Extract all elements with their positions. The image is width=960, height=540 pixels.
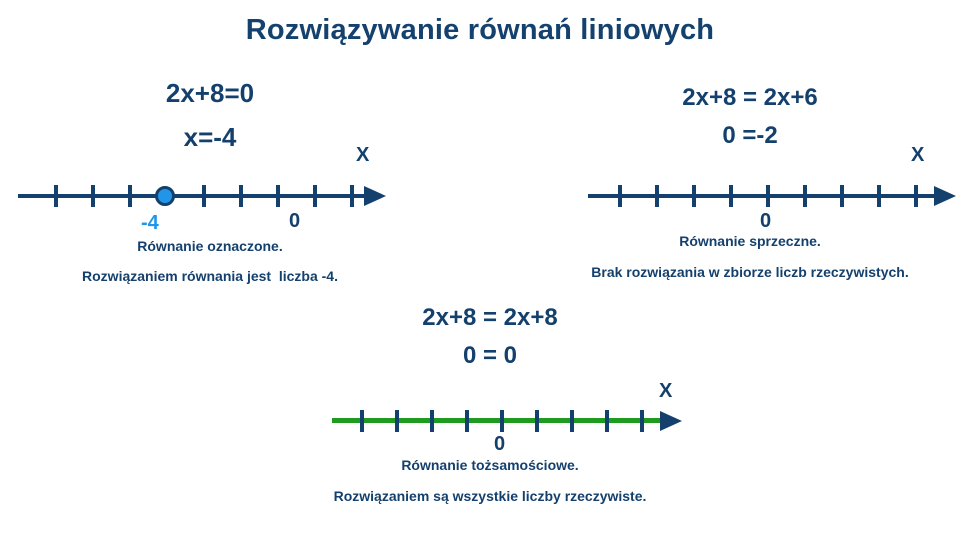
number-line-tick bbox=[350, 185, 354, 207]
number-line-arrowhead bbox=[364, 186, 386, 206]
caption-primary: Równanie sprzeczne. bbox=[540, 233, 960, 249]
number-line-tick bbox=[500, 410, 504, 432]
number-line-determinate bbox=[18, 176, 418, 216]
number-line-identity bbox=[332, 400, 732, 440]
number-line-shaft-highlighted bbox=[332, 418, 662, 423]
number-line-tick bbox=[692, 185, 696, 207]
number-line-tick bbox=[313, 185, 317, 207]
number-line-tick bbox=[914, 185, 918, 207]
caption-primary: Równanie oznaczone. bbox=[0, 238, 420, 254]
number-line-tick bbox=[465, 410, 469, 432]
panel-contradictory-equation: 2x+8 = 2x+6 0 =-2 x 0 Równanie sprzeczne… bbox=[540, 78, 960, 293]
panel-determinate-equation: 2x+8=0 x=-4 x -4 0 Równanie oznaczone. R… bbox=[0, 78, 440, 293]
number-line-tick bbox=[128, 185, 132, 207]
number-line-tick bbox=[430, 410, 434, 432]
equation-line-2: 0 =-2 bbox=[540, 122, 960, 150]
number-line-tick bbox=[360, 410, 364, 432]
axis-label-x: x bbox=[356, 144, 369, 167]
zero-label: 0 bbox=[494, 433, 505, 456]
number-line-tick bbox=[54, 185, 58, 207]
zero-label: 0 bbox=[760, 210, 771, 233]
caption-secondary: Brak rozwiązania w zbiorze liczb rzeczyw… bbox=[540, 264, 960, 280]
axis-label-x: x bbox=[659, 380, 672, 403]
zero-label: 0 bbox=[289, 210, 300, 233]
number-line-tick bbox=[766, 185, 770, 207]
number-line-arrowhead bbox=[660, 411, 682, 431]
number-line-tick bbox=[202, 185, 206, 207]
number-line-tick bbox=[605, 410, 609, 432]
number-line-tick bbox=[655, 185, 659, 207]
number-line-tick bbox=[840, 185, 844, 207]
caption-secondary: Rozwiązaniem równania jest liczba -4. bbox=[0, 268, 420, 284]
number-line-tick bbox=[239, 185, 243, 207]
solution-point-marker bbox=[155, 186, 175, 206]
number-line-tick bbox=[803, 185, 807, 207]
axis-label-x: x bbox=[911, 144, 924, 167]
caption-secondary: Rozwiązaniem są wszystkie liczby rzeczyw… bbox=[270, 488, 710, 504]
equation-line-2: 0 = 0 bbox=[270, 342, 710, 370]
number-line-tick bbox=[570, 410, 574, 432]
number-line-tick bbox=[877, 185, 881, 207]
equation-line-1: 2x+8=0 bbox=[0, 78, 420, 109]
number-line-arrowhead bbox=[934, 186, 956, 206]
page-title: Rozwiązywanie równań liniowych bbox=[0, 14, 960, 47]
number-line-tick bbox=[535, 410, 539, 432]
number-line-tick bbox=[91, 185, 95, 207]
number-line-contradictory bbox=[588, 176, 960, 216]
number-line-shaft bbox=[588, 194, 936, 198]
panel-identity-equation: 2x+8 = 2x+8 0 = 0 x 0 Równanie tożsamośc… bbox=[270, 300, 710, 515]
equation-line-1: 2x+8 = 2x+6 bbox=[540, 84, 960, 112]
number-line-tick bbox=[395, 410, 399, 432]
caption-primary: Równanie tożsamościowe. bbox=[270, 457, 710, 473]
equation-line-1: 2x+8 = 2x+8 bbox=[270, 304, 710, 332]
number-line-tick bbox=[276, 185, 280, 207]
number-line-tick bbox=[729, 185, 733, 207]
number-line-tick bbox=[618, 185, 622, 207]
number-line-tick bbox=[640, 410, 644, 432]
point-label-minus-four: -4 bbox=[141, 212, 159, 235]
